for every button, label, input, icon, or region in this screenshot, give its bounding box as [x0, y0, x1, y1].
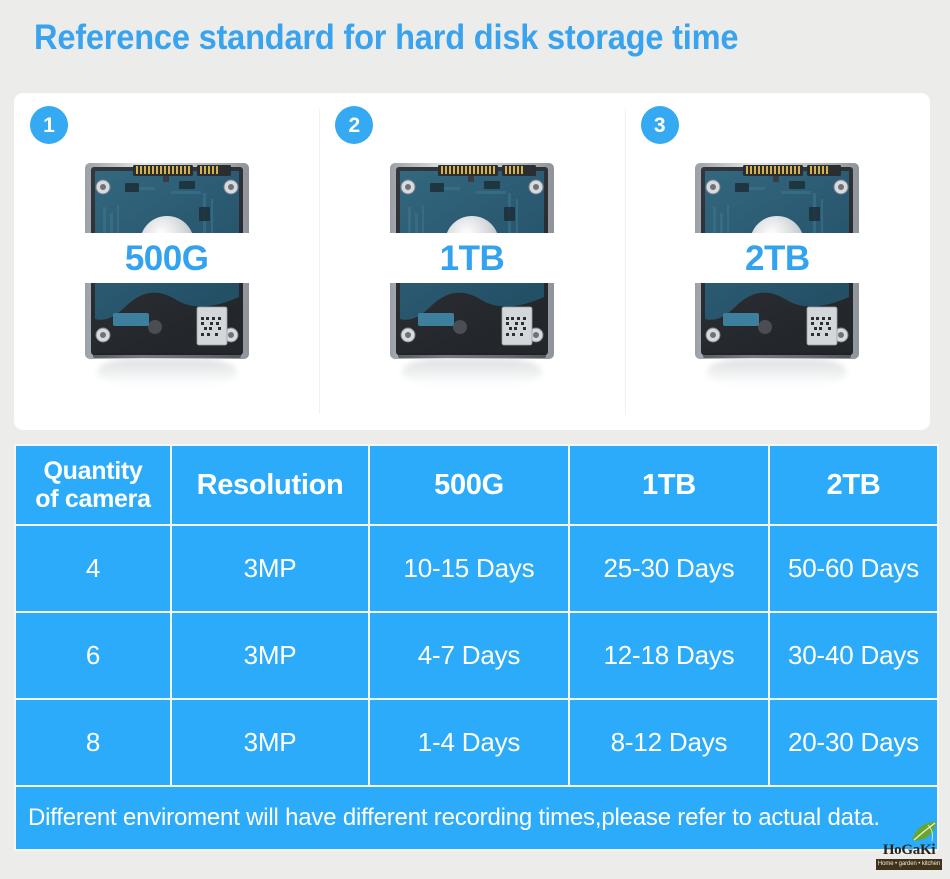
cell-quantity: 8	[15, 699, 171, 786]
drives-card: 1	[14, 93, 930, 430]
cell-2tb: 50-60 Days	[769, 525, 938, 612]
cell-quantity: 4	[15, 525, 171, 612]
footer-note: Different enviroment will have different…	[15, 786, 938, 850]
drive-reflection	[707, 359, 847, 385]
cell-2tb: 20-30 Days	[769, 699, 938, 786]
infographic-page: Reference standard for hard disk storage…	[0, 0, 950, 879]
cell-500g: 10-15 Days	[369, 525, 569, 612]
drive-panel-3: 3	[625, 93, 930, 430]
drive-panel-list: 1	[14, 93, 930, 430]
cell-2tb: 30-40 Days	[769, 612, 938, 699]
step-badge-2: 2	[335, 106, 373, 144]
capacity-text: 2TB	[745, 241, 810, 276]
table-row: 6 3MP 4-7 Days 12-18 Days 30-40 Days	[15, 612, 938, 699]
capacity-text: 1TB	[440, 241, 505, 276]
header-quantity-of-camera: Quantity of camera	[15, 445, 171, 525]
header-line-1: Quantity	[44, 457, 143, 485]
step-badge-1: 1	[30, 106, 68, 144]
brand-name: HoGaKi	[876, 843, 942, 858]
step-badge-3: 3	[641, 106, 679, 144]
brand-watermark: HoGaKi Home • garden • kitchen	[876, 819, 942, 871]
cell-quantity: 6	[15, 612, 171, 699]
drive-panel-1: 1	[14, 93, 319, 430]
table-row: 8 3MP 1-4 Days 8-12 Days 20-30 Days	[15, 699, 938, 786]
cell-resolution: 3MP	[171, 699, 369, 786]
capacity-label-2: 1TB	[380, 233, 564, 283]
table-header-row: Quantity of camera Resolution 500G 1TB 2…	[15, 445, 938, 525]
drive-reflection	[402, 359, 542, 385]
cell-1tb: 25-30 Days	[569, 525, 769, 612]
table-row: 4 3MP 10-15 Days 25-30 Days 50-60 Days	[15, 525, 938, 612]
capacity-label-1: 500G	[75, 233, 259, 283]
drive-panel-2: 2	[319, 93, 624, 430]
hard-drive-image-3: 2TB	[689, 147, 865, 397]
capacity-text: 500G	[125, 241, 209, 276]
cell-500g: 4-7 Days	[369, 612, 569, 699]
header-resolution: Resolution	[171, 445, 369, 525]
cell-resolution: 3MP	[171, 612, 369, 699]
cell-500g: 1-4 Days	[369, 699, 569, 786]
table-footer-row: Different enviroment will have different…	[15, 786, 938, 850]
header-500g: 500G	[369, 445, 569, 525]
brand-tagline: Home • garden • kitchen	[876, 859, 942, 870]
drive-reflection	[97, 359, 237, 385]
hard-drive-image-1: 500G	[79, 147, 255, 397]
cell-1tb: 8-12 Days	[569, 699, 769, 786]
page-title: Reference standard for hard disk storage…	[34, 18, 862, 58]
hard-drive-image-2: 1TB	[384, 147, 560, 397]
header-2tb: 2TB	[769, 445, 938, 525]
cell-resolution: 3MP	[171, 525, 369, 612]
header-1tb: 1TB	[569, 445, 769, 525]
header-line-2: of camera	[35, 485, 150, 513]
capacity-label-3: 2TB	[685, 233, 869, 283]
cell-1tb: 12-18 Days	[569, 612, 769, 699]
storage-time-table: Quantity of camera Resolution 500G 1TB 2…	[14, 444, 939, 851]
